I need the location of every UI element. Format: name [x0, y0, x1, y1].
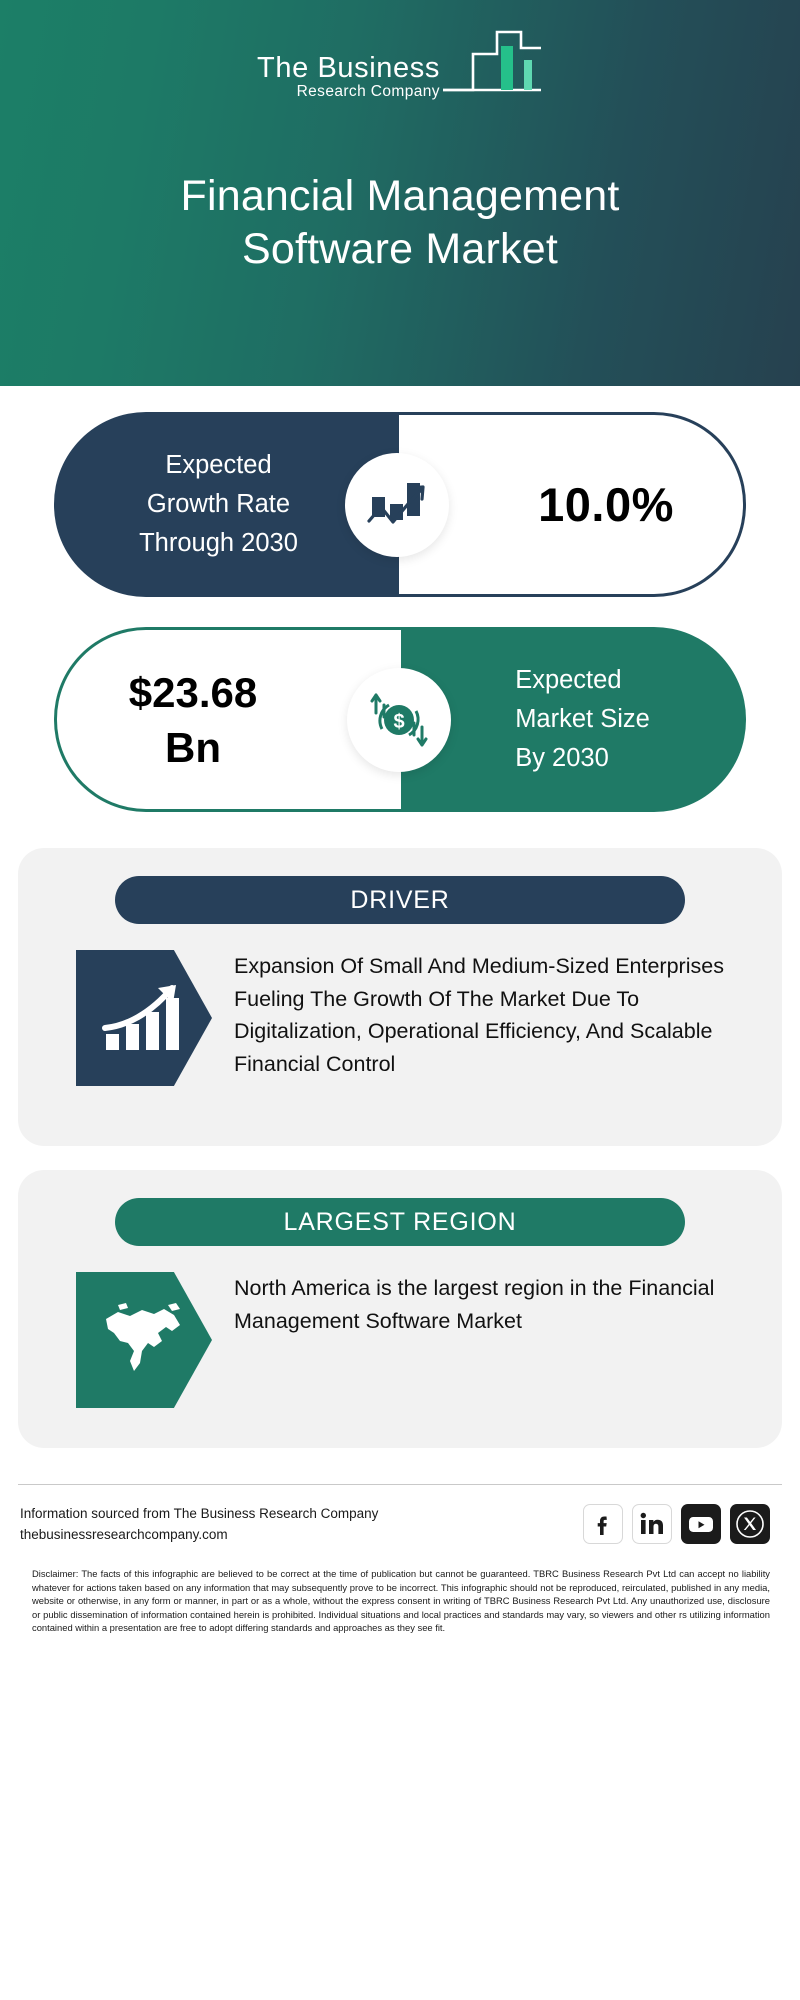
footer: Information sourced from The Business Re…: [0, 1484, 800, 1635]
market-size-label-line2: Market Size: [515, 700, 650, 739]
largest-region-body-text: North America is the largest region in t…: [234, 1272, 742, 1337]
growth-chart-arrow-icon: [76, 950, 212, 1086]
growth-bar-arrow-icon: [345, 453, 449, 557]
linkedin-icon[interactable]: [632, 1504, 672, 1544]
market-size-value-line2: Bn: [129, 720, 257, 775]
growth-rate-value-panel: 10.0%: [399, 412, 746, 597]
svg-text:$: $: [393, 711, 404, 733]
dollar-circulation-icon: $: [347, 668, 451, 772]
largest-region-chip-label: LARGEST REGION: [283, 1208, 516, 1237]
footer-source-line1: Information sourced from The Business Re…: [20, 1503, 378, 1524]
footer-source-line2[interactable]: thebusinessresearchcompany.com: [20, 1524, 378, 1545]
infographic-page: The Business Research Company Financial …: [0, 0, 800, 2000]
youtube-icon[interactable]: [681, 1504, 721, 1544]
page-title: Financial Management Software Market: [0, 170, 800, 276]
growth-rate-label-line3: Through 2030: [139, 524, 298, 563]
page-title-line1: Financial Management: [0, 170, 800, 223]
footer-divider: [18, 1484, 782, 1485]
driver-card: DRIVER Expansion Of Small And Medium-Siz…: [18, 848, 782, 1146]
market-size-value-line1: $23.68: [129, 665, 257, 720]
logo-subtitle: Research Company: [297, 83, 440, 101]
footer-source: Information sourced from The Business Re…: [20, 1503, 378, 1545]
facebook-icon[interactable]: [583, 1504, 623, 1544]
market-size-label-line1: Expected: [515, 661, 650, 700]
largest-region-chip: LARGEST REGION: [115, 1198, 685, 1246]
company-logo: The Business Research Company: [0, 26, 800, 106]
growth-rate-label-line2: Growth Rate: [139, 485, 298, 524]
disclaimer-text: Disclaimer: The facts of this infographi…: [18, 1567, 782, 1635]
stat-growth-rate: Expected Growth Rate Through 2030 10.0%: [0, 412, 800, 597]
market-size-label-panel: Expected Market Size By 2030: [401, 627, 746, 812]
header-banner: The Business Research Company Financial …: [0, 0, 800, 386]
growth-rate-value: 10.0%: [468, 477, 674, 532]
driver-chip-label: DRIVER: [350, 886, 449, 915]
stat-market-size: $23.68 Bn Expected Market Size By 2030 $: [0, 627, 800, 812]
social-links: [583, 1504, 782, 1544]
driver-chip: DRIVER: [115, 876, 685, 924]
bar-chart-logo-mark: [441, 26, 543, 103]
x-twitter-icon[interactable]: [730, 1504, 770, 1544]
growth-rate-label-line1: Expected: [139, 446, 298, 485]
largest-region-card: LARGEST REGION North America is the larg…: [18, 1170, 782, 1448]
driver-body-text: Expansion Of Small And Medium-Sized Ente…: [234, 950, 742, 1080]
north-america-map-icon: [76, 1272, 212, 1408]
logo-title: The Business: [257, 53, 440, 83]
page-title-line2: Software Market: [0, 223, 800, 276]
market-size-label-line3: By 2030: [515, 739, 650, 778]
